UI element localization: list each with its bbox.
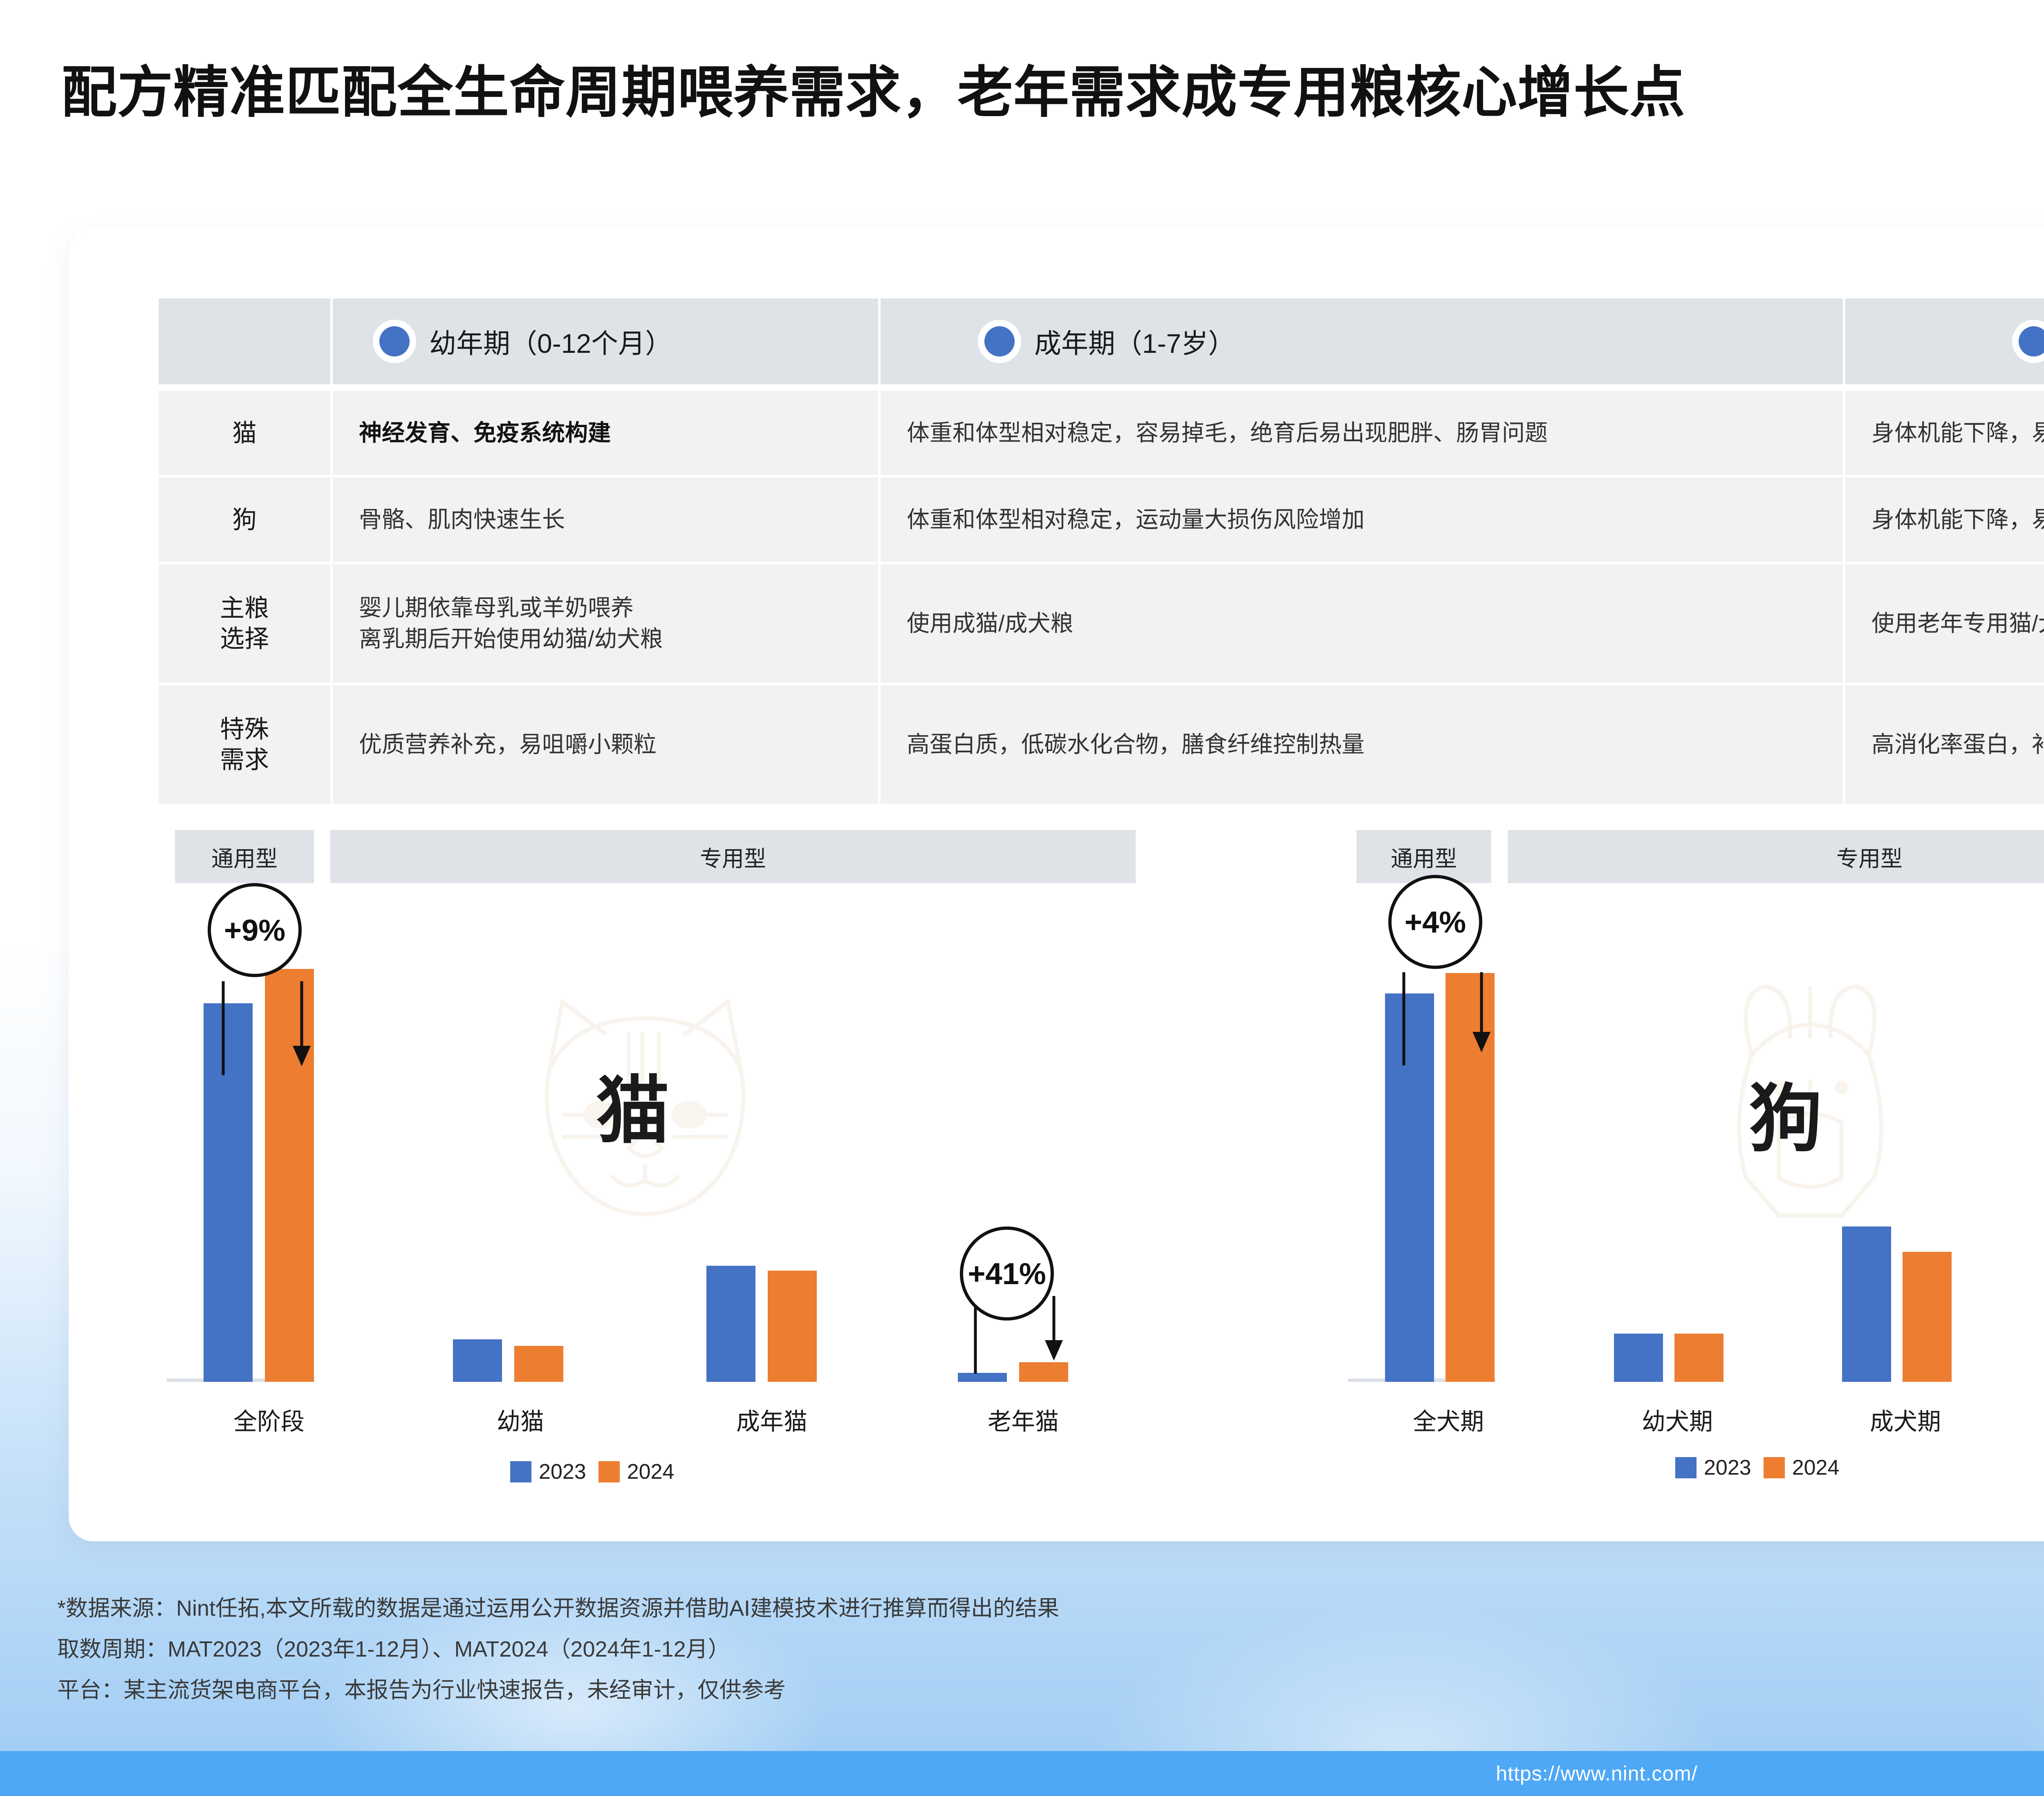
legend-swatch-2024	[598, 1461, 620, 1482]
legend-label-2023: 2023	[1704, 1455, 1751, 1480]
cell-staple-adult: 使用成猫/成犬粮	[878, 564, 1843, 683]
bar-2024-dog-puppy	[1674, 1334, 1724, 1382]
table-row: 主粮 选择 婴儿期依靠母乳或羊奶喂养 离乳期后开始使用幼猫/幼犬粮 使用成猫/成…	[159, 564, 2044, 683]
legend-item-2023: 2023	[510, 1460, 586, 1484]
growth-badge-cat-senior: +41%	[960, 1226, 1054, 1321]
bullet-dot-icon	[379, 326, 410, 357]
report-page: 配方精准匹配全生命周期喂养需求，老年需求成专用粮核心增长点 Nint 任拓 幼年…	[0, 0, 2044, 1796]
row-label-text: 猫	[232, 418, 257, 448]
bar-2024-cat-adult	[768, 1271, 817, 1382]
cell-text: 婴儿期依靠母乳或羊奶喂养 离乳期后开始使用幼猫/幼犬粮	[359, 592, 663, 654]
cell-text: 体重和体型相对稳定，容易掉毛，绝育后易出现肥胖、肠胃问题	[907, 417, 1548, 448]
bullet-dot-icon	[984, 326, 1015, 357]
cell-text-line2: 离乳期后开始使用幼猫/幼犬粮	[359, 626, 663, 652]
row-label-text: 狗	[232, 504, 257, 535]
legend-label-2023: 2023	[539, 1460, 586, 1484]
band-general-type: 通用型	[175, 830, 314, 883]
cat-xtick-3: 老年猫	[933, 1402, 1113, 1437]
row-label-dog: 狗	[159, 478, 330, 562]
cell-text-line1: 婴儿期依靠母乳或羊奶喂养	[359, 595, 634, 621]
table-row: 猫 神经发育、免疫系统构建 体重和体型相对稳定，容易掉毛，绝育后易出现肥胖、肠胃…	[159, 391, 2044, 475]
growth-arrow-icon	[199, 957, 334, 1120]
page-title: 配方精准匹配全生命周期喂养需求，老年需求成专用粮核心增长点	[61, 63, 1685, 122]
cat-bar-chart: 通用型 专用型 猫	[150, 830, 1254, 1476]
bullet-dot-icon	[2019, 326, 2044, 357]
cell-dog-senior: 身体机能下降，易出现慢性疾病（骨质疏松、牙齿等问题）	[1843, 478, 2044, 562]
cat-chart-legend: 2023 2024	[510, 1460, 674, 1484]
legend-swatch-2024	[1764, 1457, 1785, 1478]
footnote-platform: 平台：某主流货架电商平台，本报告为行业快速报告，未经审计，仅供参考	[57, 1670, 1059, 1711]
cell-cat-juvenile: 神经发育、免疫系统构建	[330, 391, 878, 475]
legend-item-2023: 2023	[1675, 1455, 1751, 1480]
cell-cat-senior: 身体机能下降，易出现慢性疾病（心脏、泌尿等问题）	[1843, 391, 2044, 475]
dog-chart-legend: 2023 2024	[1675, 1455, 1839, 1480]
band-label: 专用型	[700, 841, 766, 873]
legend-swatch-2023	[510, 1461, 531, 1482]
bar-2024-cat-kitten	[514, 1346, 563, 1382]
cell-dog-adult: 体重和体型相对稳定，运动量大损伤风险增加	[878, 478, 1843, 562]
cell-text: 体重和体型相对稳定，运动量大损伤风险增加	[907, 504, 1365, 535]
cell-text: 高蛋白质，低碳水化合物，膳食纤维控制热量	[907, 729, 1365, 760]
legend-label-2024: 2024	[627, 1460, 675, 1484]
header: 配方精准匹配全生命周期喂养需求，老年需求成专用粮核心增长点 Nint 任拓	[61, 53, 2044, 122]
legend-item-2024: 2024	[598, 1460, 675, 1484]
cell-dog-juvenile: 骨骼、肌肉快速生长	[330, 478, 878, 562]
cell-text: 神经发育、免疫系统构建	[359, 417, 611, 448]
table-row: 特殊 需求 优质营养补充，易咀嚼小颗粒 高蛋白质，低碳水化合物，膳食纤维控制热量…	[159, 685, 2044, 804]
dog-xtick-0: 全犬期	[1360, 1402, 1536, 1437]
bar-2023-dog-puppy	[1614, 1334, 1663, 1382]
dog-xtick-2: 成犬期	[1818, 1402, 1993, 1437]
bar-2024-dog-adult	[1903, 1252, 1952, 1382]
footnote-data-source: *数据来源：Nint任拓,本文所载的数据是通过运用公开数据资源并借助AI建模技术…	[57, 1588, 1059, 1629]
footnote-period: 取数周期：MAT2023（2023年1-12月）、MAT2024（2024年1-…	[57, 1629, 1059, 1670]
stage-header-label: 幼年期（0-12个月）	[429, 322, 672, 361]
content-card: 幼年期（0-12个月） 成年期（1-7岁） 老年期（7岁+） 猫 神经发育、免疫…	[69, 229, 2044, 1541]
band-specialized-type: 专用型	[330, 830, 1136, 883]
band-label: 通用型	[1391, 841, 1457, 873]
legend-item-2024: 2024	[1764, 1455, 1840, 1480]
cell-staple-senior: 使用老年专用猫/犬粮、处方粮等定制宠粮	[1843, 564, 2044, 683]
cell-text: 使用老年专用猫/犬粮、处方粮等定制宠粮	[1871, 608, 2044, 639]
band-label: 通用型	[211, 841, 278, 873]
cell-text: 优质营养补充，易咀嚼小颗粒	[359, 729, 657, 760]
dog-chart-title: 狗	[1749, 1059, 1822, 1166]
stage-header-spacer	[159, 298, 330, 384]
dog-plot-area: +4% +21%	[1332, 912, 2044, 1382]
cat-xtick-1: 幼猫	[430, 1402, 610, 1437]
cell-text: 使用成猫/成犬粮	[907, 608, 1074, 639]
cell-staple-juvenile: 婴儿期依靠母乳或羊奶喂养 离乳期后开始使用幼猫/幼犬粮	[330, 564, 878, 683]
row-label-special-needs: 特殊 需求	[159, 685, 330, 804]
cat-chart-title: 猫	[596, 1051, 670, 1157]
stage-header-juvenile: 幼年期（0-12个月）	[330, 298, 878, 384]
legend-swatch-2023	[1675, 1457, 1697, 1478]
cat-chart-group-bands: 通用型 专用型	[150, 830, 1254, 883]
cell-cat-adult: 体重和体型相对稳定，容易掉毛，绝育后易出现肥胖、肠胃问题	[878, 391, 1843, 475]
stage-header-senior: 老年期（7岁+）	[1843, 298, 2044, 384]
stage-header-label: 成年期（1-7岁）	[1034, 322, 1235, 361]
bar-2023-cat-adult	[706, 1266, 755, 1382]
cell-text: 身体机能下降，易出现慢性疾病（心脏、泌尿等问题）	[1871, 417, 2044, 448]
row-label-text: 主粮 选择	[220, 593, 269, 654]
bar-2023-cat-kitten	[453, 1339, 502, 1382]
growth-arrow-icon	[1380, 948, 1515, 1111]
cell-special-adult: 高蛋白质，低碳水化合物，膳食纤维控制热量	[878, 685, 1843, 804]
legend-label-2024: 2024	[1792, 1455, 1840, 1480]
cell-special-senior: 高消化率蛋白，补充营养元素，软质易咀嚼颗粒	[1843, 685, 2044, 804]
row-label-cat: 猫	[159, 391, 330, 475]
stage-header-adult: 成年期（1-7岁）	[878, 298, 1843, 384]
row-label-line2: 需求	[220, 746, 269, 774]
cell-text: 高消化率蛋白，补充营养元素，软质易咀嚼颗粒	[1871, 729, 2044, 760]
cat-xtick-0: 全阶段	[179, 1402, 359, 1437]
bar-2023-dog-adult	[1842, 1226, 1891, 1382]
row-label-line2: 选择	[220, 625, 269, 652]
cell-text: 身体机能下降，易出现慢性疾病（骨质疏松、牙齿等问题）	[1871, 504, 2044, 535]
row-label-line1: 特殊	[220, 715, 269, 743]
table-row: 狗 骨骼、肌肉快速生长 体重和体型相对稳定，运动量大损伤风险增加 身体机能下降，…	[159, 478, 2044, 562]
growth-badge-cat-all-stage: +9%	[208, 883, 302, 977]
row-label-line1: 主粮	[220, 594, 269, 622]
band-specialized-type: 专用型	[1508, 830, 2044, 883]
cell-text: 骨骼、肌肉快速生长	[359, 504, 565, 535]
band-general-type: 通用型	[1356, 830, 1491, 883]
footnotes: *数据来源：Nint任拓,本文所载的数据是通过运用公开数据资源并借助AI建模技术…	[57, 1588, 1059, 1711]
row-label-staple-choice: 主粮 选择	[159, 564, 330, 683]
growth-badge-dog-all-stage: +4%	[1388, 875, 1482, 969]
dog-xtick-1: 幼犬期	[1589, 1402, 1765, 1437]
footer-url-bar[interactable]: https://www.nint.com/	[0, 1751, 2044, 1796]
dog-bar-chart: 通用型 专用型 狗	[1332, 830, 2044, 1476]
cat-xtick-2: 成年猫	[682, 1402, 862, 1437]
row-label-text: 特殊 需求	[220, 714, 269, 775]
cell-special-juvenile: 优质营养补充，易咀嚼小颗粒	[330, 685, 878, 804]
footer-url-text[interactable]: https://www.nint.com/	[1496, 1762, 1697, 1785]
lifecycle-stage-header: 幼年期（0-12个月） 成年期（1-7岁） 老年期（7岁+）	[159, 298, 2044, 384]
cat-plot-area: +9% +41%	[150, 912, 1254, 1382]
band-label: 专用型	[1836, 841, 1903, 873]
